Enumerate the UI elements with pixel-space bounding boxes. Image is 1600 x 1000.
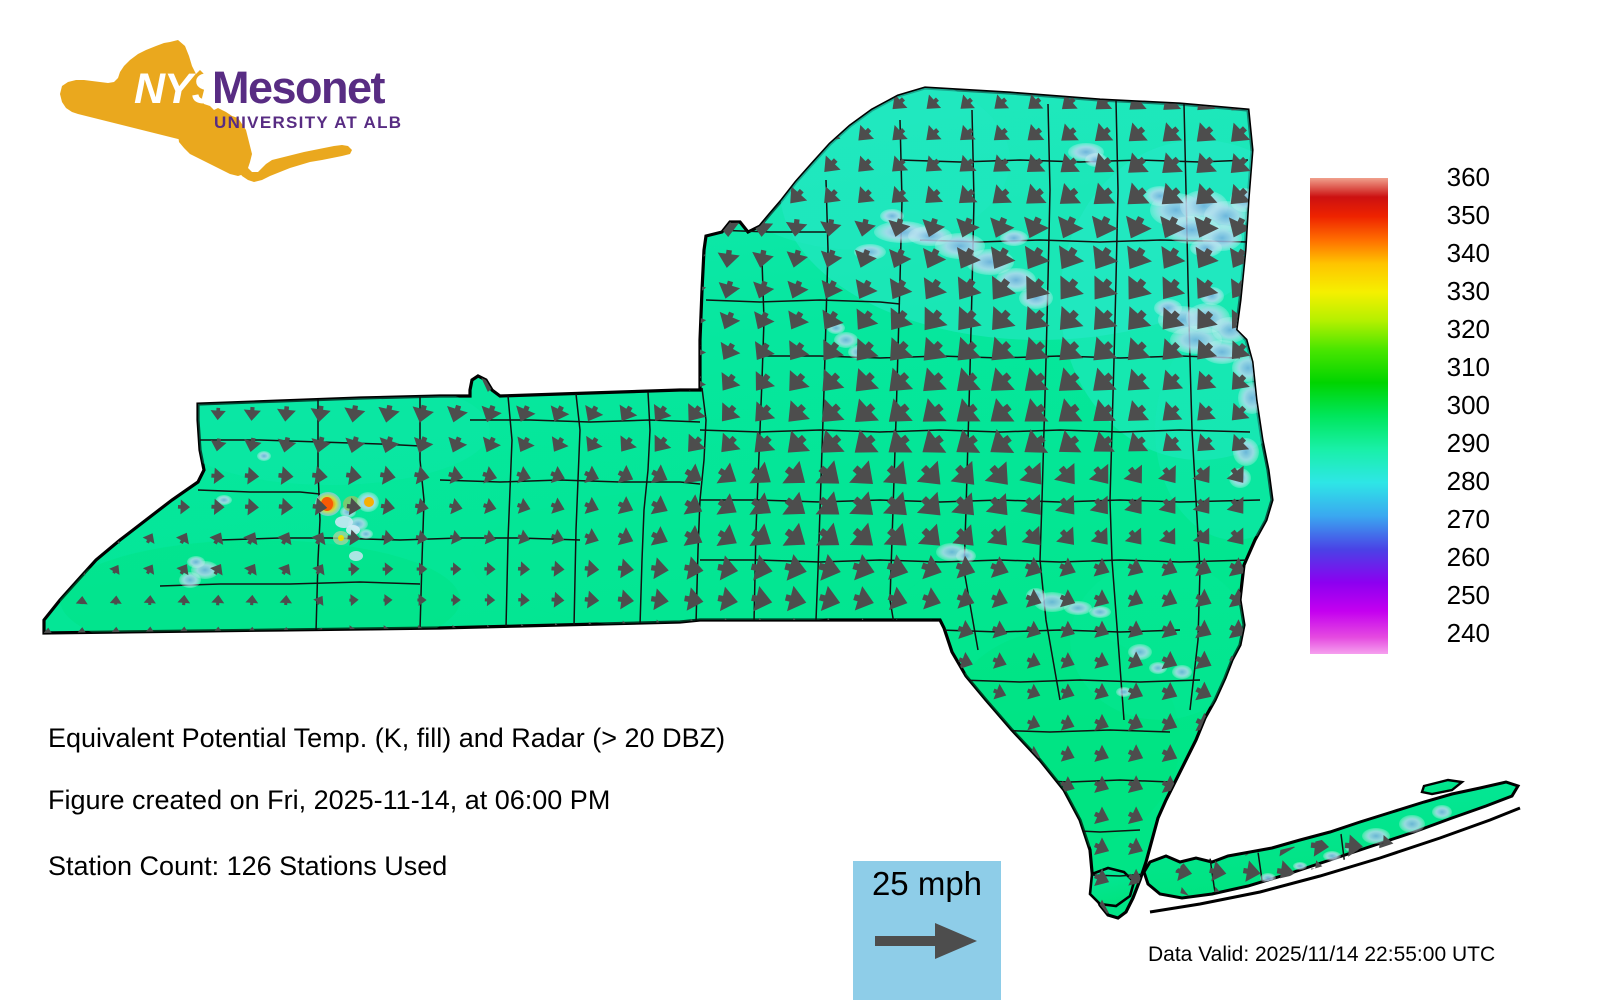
- colorbar: 360 350 340 330 320 310 300 290 280 270 …: [1310, 178, 1490, 656]
- colorbar-gradient: [1310, 178, 1388, 654]
- colorbar-tick-250: 250: [1404, 582, 1490, 608]
- colorbar-tick-280: 280: [1404, 468, 1490, 494]
- colorbar-tick-350: 350: [1404, 202, 1490, 228]
- wind-scale-label: 25 mph: [853, 865, 1001, 903]
- colorbar-tick-330: 330: [1404, 278, 1490, 304]
- figure-title: Equivalent Potential Temp. (K, fill) and…: [48, 723, 725, 754]
- wind-scale-legend: 25 mph: [853, 861, 1001, 1000]
- colorbar-tick-340: 340: [1404, 240, 1490, 266]
- colorbar-tick-320: 320: [1404, 316, 1490, 342]
- weather-map-figure: NYS Mesonet UNIVERSITY AT ALBANY: [0, 0, 1600, 1000]
- colorbar-tick-260: 260: [1404, 544, 1490, 570]
- colorbar-tick-310: 310: [1404, 354, 1490, 380]
- colorbar-tick-270: 270: [1404, 506, 1490, 532]
- colorbar-tick-290: 290: [1404, 430, 1490, 456]
- data-valid-text: Data Valid: 2025/11/14 22:55:00 UTC: [1148, 943, 1495, 967]
- colorbar-tick-240: 240: [1404, 620, 1490, 646]
- colorbar-tick-360: 360: [1404, 164, 1490, 190]
- figure-created-text: Figure created on Fri, 2025-11-14, at 06…: [48, 785, 610, 816]
- colorbar-tick-300: 300: [1404, 392, 1490, 418]
- wind-scale-arrow-icon: [875, 921, 979, 961]
- station-count-text: Station Count: 126 Stations Used: [48, 851, 447, 882]
